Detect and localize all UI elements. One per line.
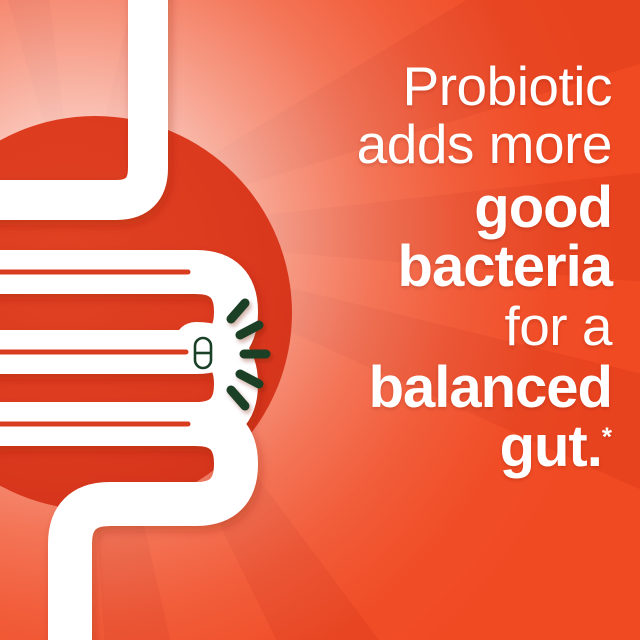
intestine-svg xyxy=(0,0,340,640)
headline-line-adds-more: adds more xyxy=(300,118,612,171)
headline-block: Probiotic adds more good bacteria for a … xyxy=(300,60,612,475)
intestine-illustration xyxy=(0,0,340,640)
headline-line-probiotic: Probiotic xyxy=(300,60,612,113)
promo-graphic: Probiotic adds more good bacteria for a … xyxy=(0,0,640,640)
headline-line-for-a: for a xyxy=(300,300,612,353)
headline-line-gut: gut.* xyxy=(300,419,612,475)
headline-gut-word: gut. xyxy=(500,414,602,479)
headline-line-bacteria: bacteria xyxy=(300,239,612,295)
headline-line-good: good xyxy=(300,180,612,236)
headline-line-balanced: balanced xyxy=(300,360,612,416)
footnote-asterisk: * xyxy=(602,422,612,452)
